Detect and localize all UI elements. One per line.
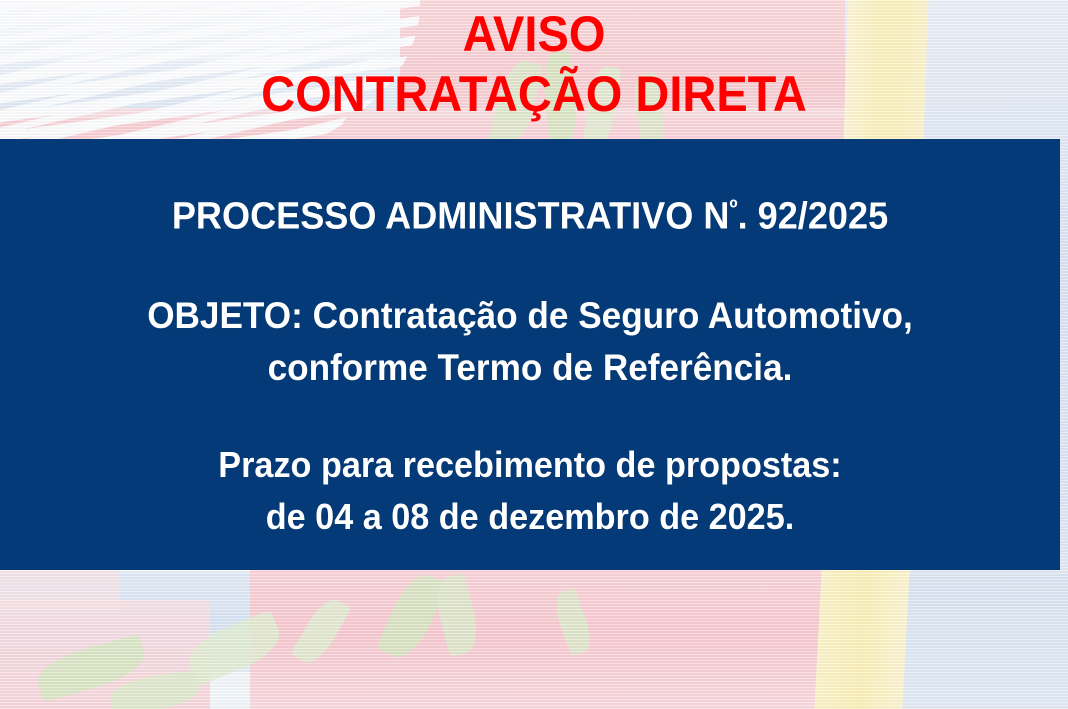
notice-blue-panel: PROCESSO ADMINISTRATIVO Nº. 92/2025 OBJE… [0,139,1060,570]
process-number-line: PROCESSO ADMINISTRATIVO Nº. 92/2025 [27,184,1034,240]
prazo-block: Prazo para recebimento de propostas: de … [27,439,1034,543]
headline-line-modalidade: CONTRATAÇÃO DIRETA [32,64,1036,124]
process-number-block: PROCESSO ADMINISTRATIVO Nº. 92/2025 [27,184,1034,240]
objeto-line-1: OBJETO: Contratação de Seguro Automotivo… [27,290,1034,342]
notice-headline: AVISO CONTRATAÇÃO DIRETA [32,4,1036,124]
objeto-line-2: conforme Termo de Referência. [27,342,1034,394]
headline-line-aviso: AVISO [32,4,1036,64]
notice-poster: AVISO CONTRATAÇÃO DIRETA PROCESSO ADMINI… [0,0,1068,709]
prazo-dates-line: de 04 a 08 de dezembro de 2025. [27,491,1034,543]
ordinal-indicator: º [729,195,737,221]
process-number-suffix: . 92/2025 [738,195,889,237]
prazo-label-line: Prazo para recebimento de propostas: [27,439,1034,491]
objeto-block: OBJETO: Contratação de Seguro Automotivo… [27,290,1034,394]
process-number-prefix: PROCESSO ADMINISTRATIVO N [172,195,730,237]
